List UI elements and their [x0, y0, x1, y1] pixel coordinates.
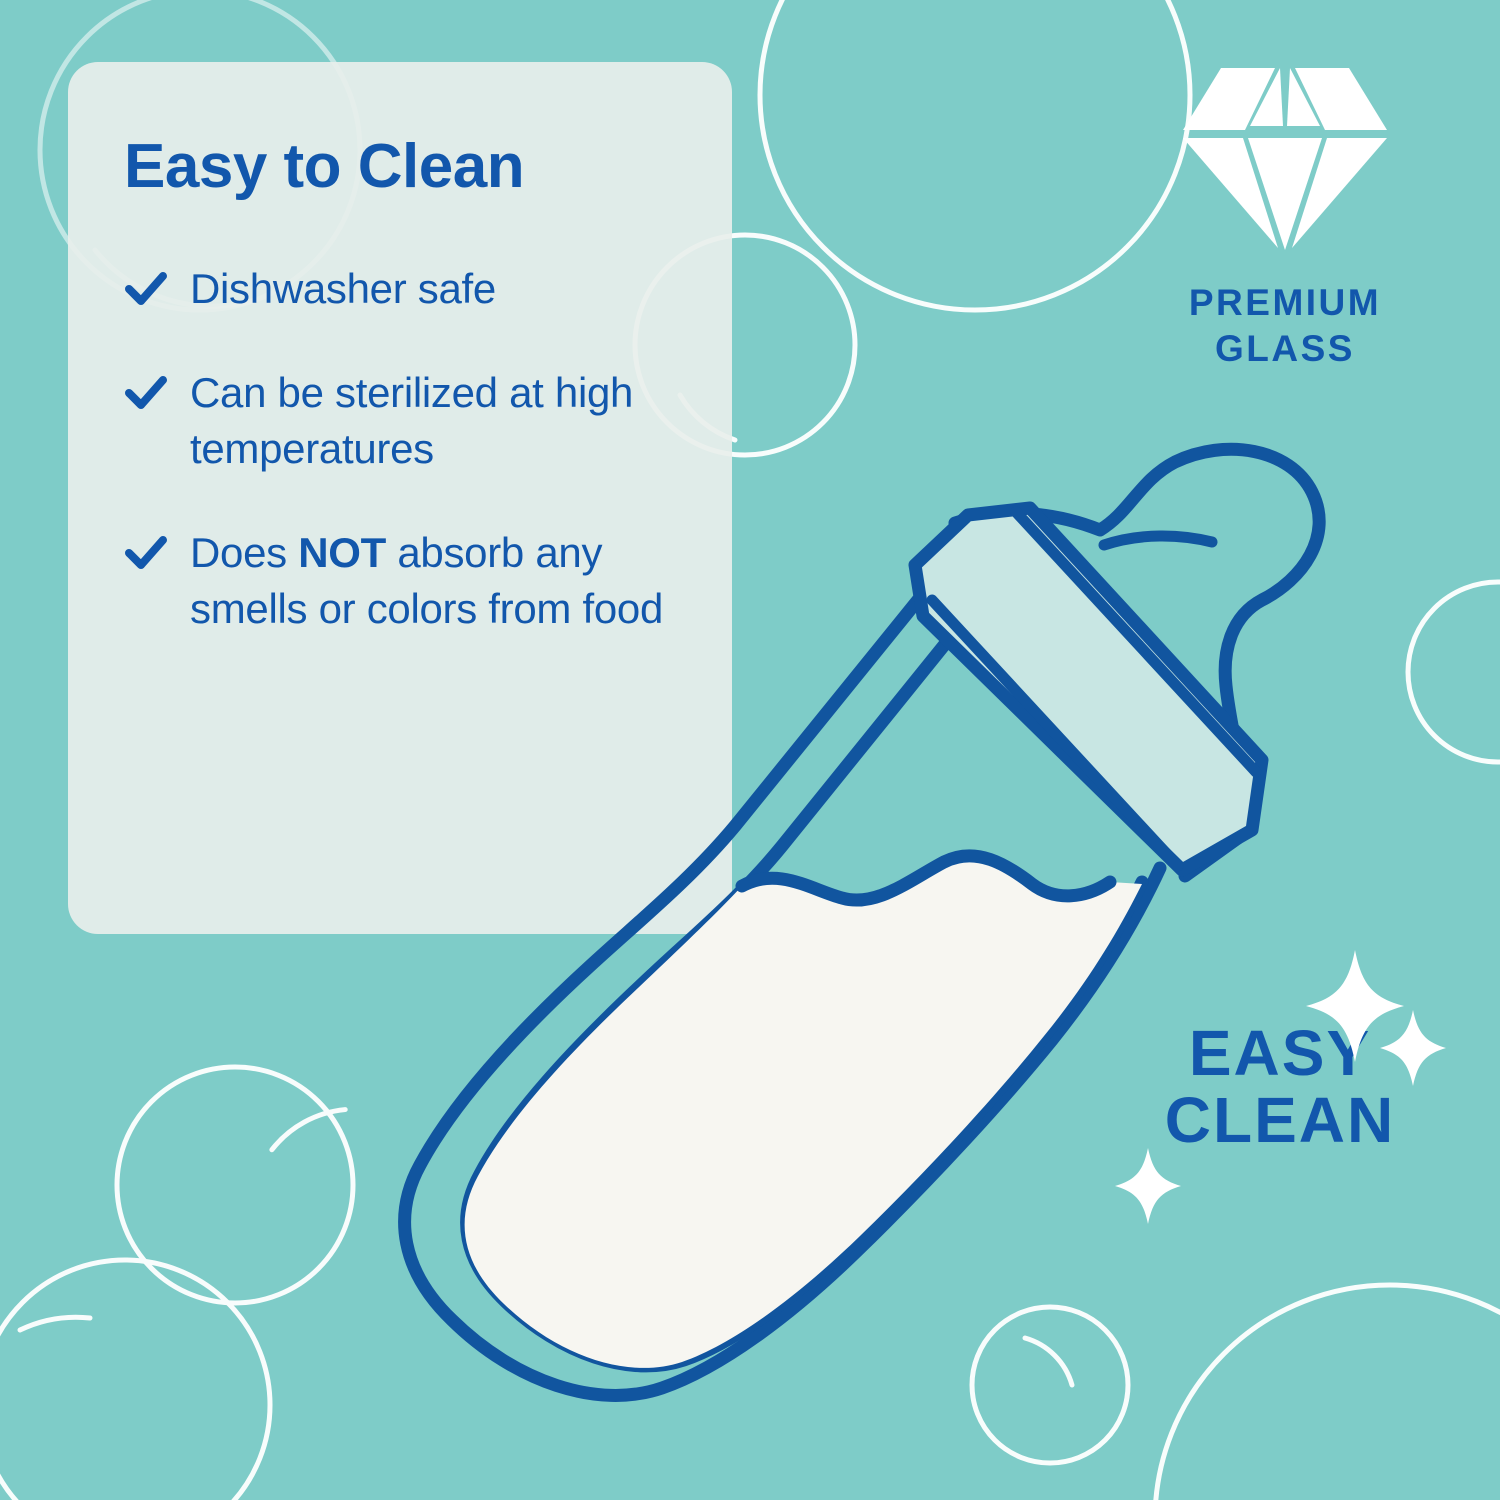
easy-clean-badge: EASY CLEAN [1110, 1020, 1450, 1154]
infographic-canvas: Easy to Clean Dishwasher safe Can be ste… [0, 0, 1500, 1500]
list-item-label: Can be sterilized at high temperatures [190, 365, 692, 477]
feature-list: Dishwasher safe Can be sterilized at hig… [124, 261, 692, 636]
list-item: Does NOT absorb any smells or colors fro… [124, 525, 692, 637]
nipple-detail-line [1104, 536, 1212, 545]
premium-glass-caption: PREMIUM GLASS [1110, 280, 1460, 373]
badge-line-2: GLASS [1110, 326, 1460, 372]
feature-text-1: Can be sterilized at high temperatures [190, 369, 633, 472]
list-item-label: Dishwasher safe [190, 261, 496, 317]
feature-text-2-before: Does [190, 529, 298, 576]
list-item: Can be sterilized at high temperatures [124, 365, 692, 477]
list-item-label: Does NOT absorb any smells or colors fro… [190, 525, 692, 637]
feature-text-0: Dishwasher safe [190, 265, 496, 312]
check-icon [124, 267, 168, 311]
page-title: Easy to Clean [124, 134, 692, 199]
feature-text-2-emphasis: NOT [298, 529, 386, 576]
check-icon [124, 531, 168, 575]
easy-clean-line-1: EASY [1110, 1020, 1450, 1087]
diamond-icon [1179, 58, 1391, 258]
premium-glass-badge: PREMIUM GLASS [1110, 58, 1460, 373]
check-icon [124, 371, 168, 415]
feature-card-content: Easy to Clean Dishwasher safe Can be ste… [68, 62, 732, 934]
list-item: Dishwasher safe [124, 261, 692, 317]
collar-ring [915, 508, 1262, 870]
easy-clean-line-2: CLEAN [1110, 1087, 1450, 1154]
badge-line-1: PREMIUM [1110, 280, 1460, 326]
